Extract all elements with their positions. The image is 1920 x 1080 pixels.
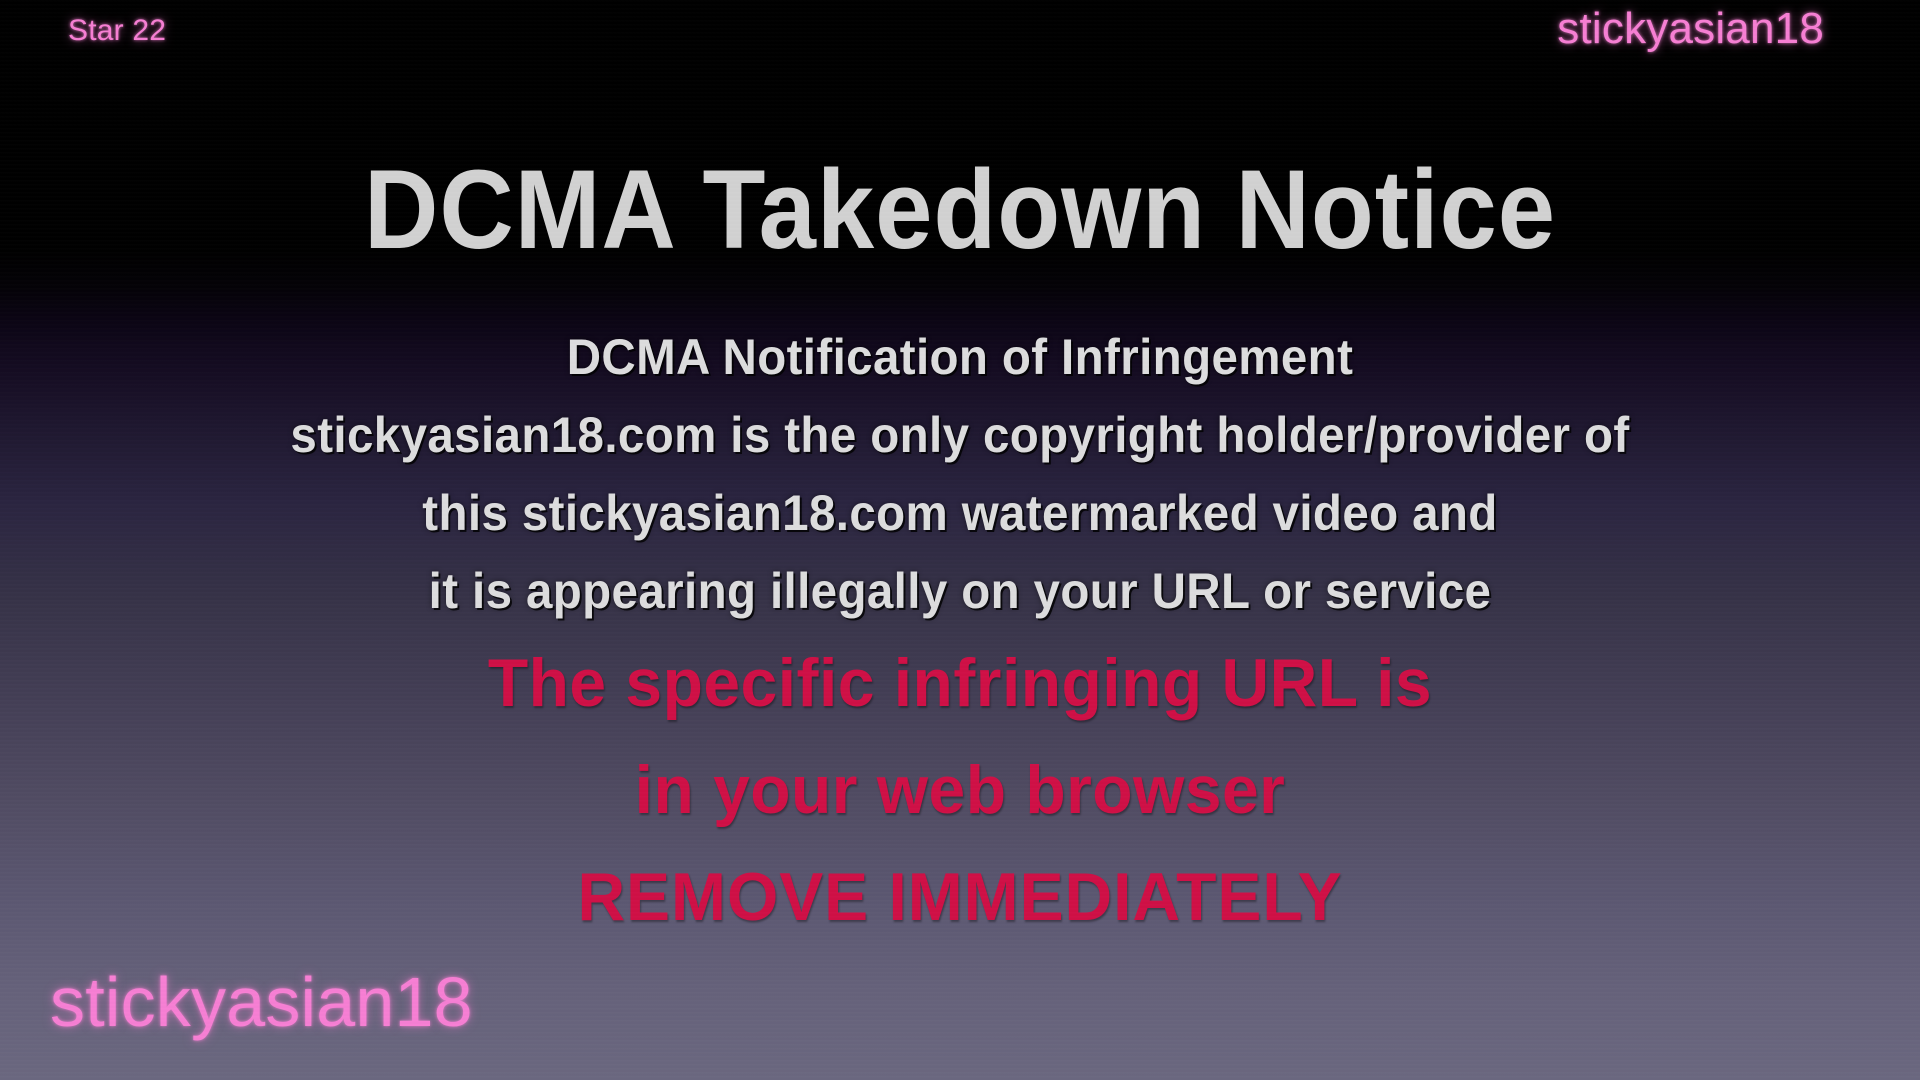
watermark-star-label: Star 22 bbox=[68, 14, 166, 48]
watermark-site-top-right: stickyasian18 bbox=[1557, 4, 1824, 54]
notice-body-line-1: DCMA Notification of Infringement bbox=[48, 318, 1872, 396]
notice-body: DCMA Notification of Infringement sticky… bbox=[0, 318, 1920, 630]
warning-line-3: REMOVE IMMEDIATELY bbox=[29, 844, 1891, 951]
warning-line-1: The specific infringing URL is bbox=[29, 630, 1891, 737]
notice-body-line-3: this stickyasian18.com watermarked video… bbox=[48, 474, 1872, 552]
watermark-site-bottom-left: stickyasian18 bbox=[50, 962, 473, 1042]
notice-warning: The specific infringing URL is in your w… bbox=[0, 630, 1920, 951]
notice-body-line-4: it is appearing illegally on your URL or… bbox=[48, 552, 1872, 630]
page-title: DCMA Takedown Notice bbox=[77, 150, 1843, 270]
notice-body-line-2: stickyasian18.com is the only copyright … bbox=[48, 396, 1872, 474]
video-frame: DCMA Takedown Notice DCMA Notification o… bbox=[0, 0, 1920, 1080]
warning-line-2: in your web browser bbox=[29, 737, 1891, 844]
